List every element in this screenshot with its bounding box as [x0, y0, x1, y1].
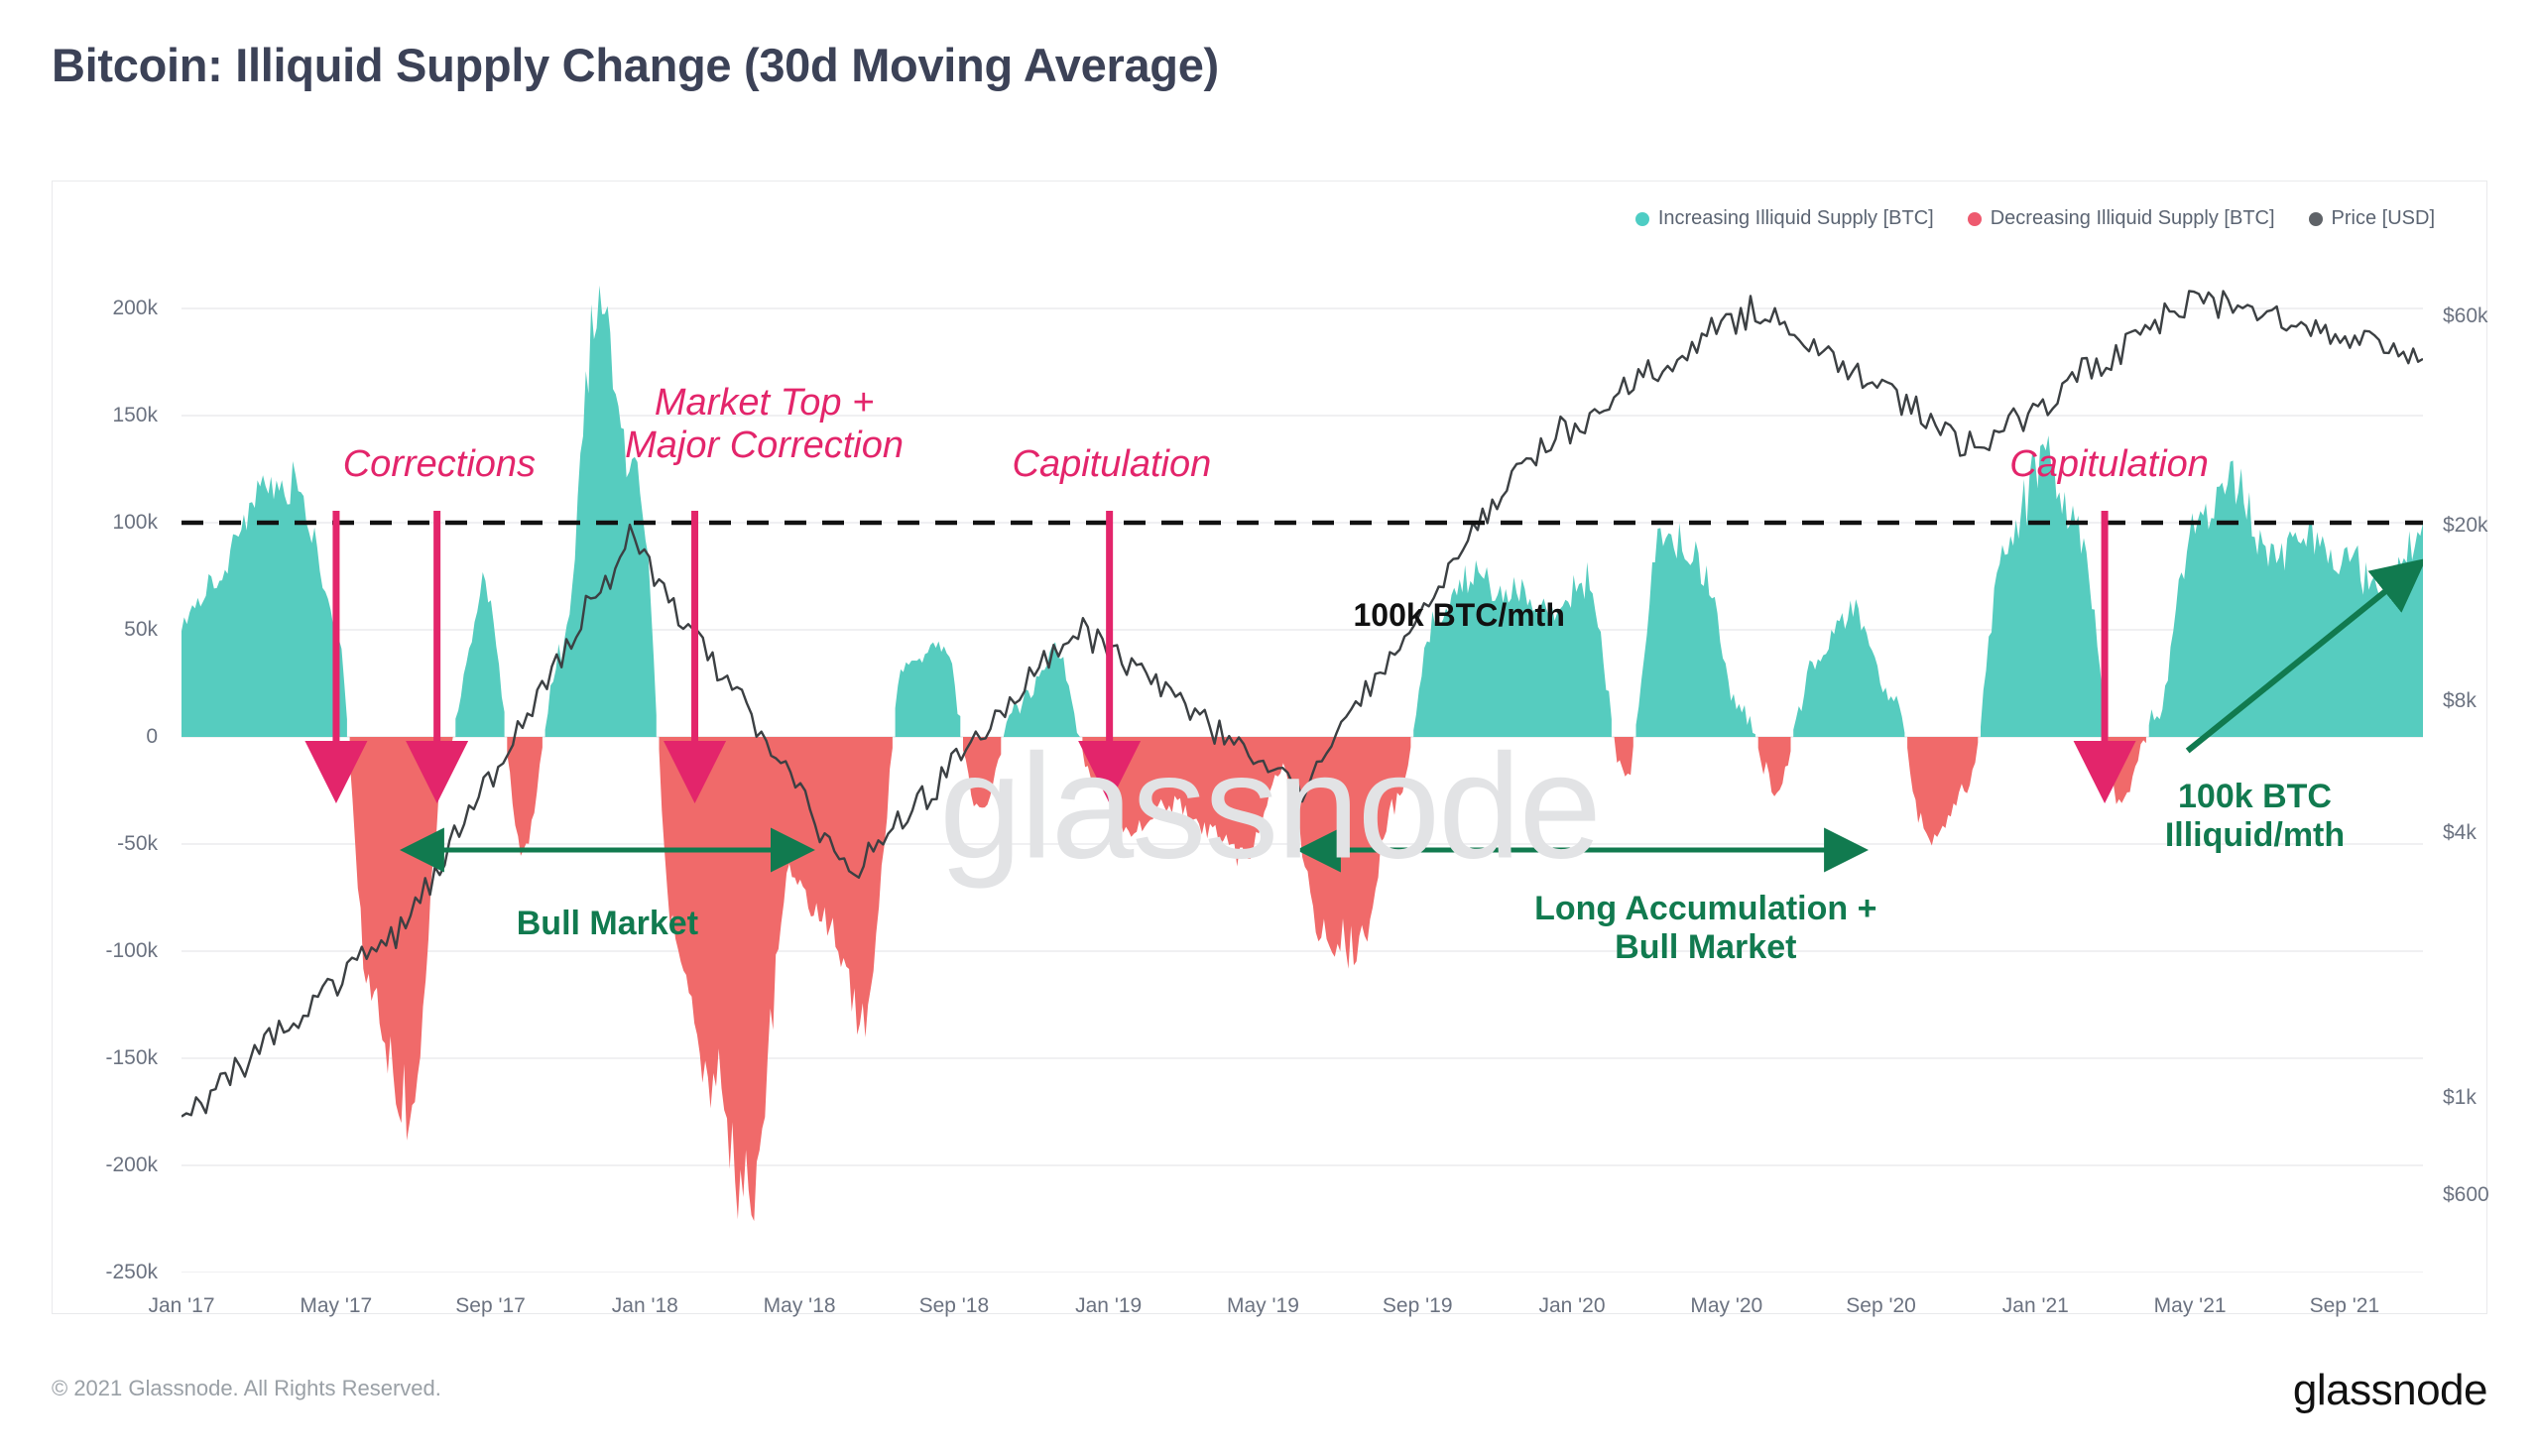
y-axis-left-tick: -50k — [117, 832, 158, 856]
x-axis-tick: Jan '20 — [1538, 1294, 1605, 1318]
annotation-long-accumulation: Long Accumulation +Bull Market — [1534, 890, 1876, 967]
annotation-line: Corrections — [343, 443, 536, 486]
legend-item-price[interactable]: Price [USD] — [2309, 207, 2435, 230]
y-axis-left-tick: 150k — [112, 404, 158, 427]
area-decreasing-illiquid-supply — [1615, 737, 1633, 777]
area-increasing-illiquid-supply — [2149, 460, 2423, 737]
legend-item-decreasing[interactable]: Decreasing Illiquid Supply [BTC] — [1968, 207, 2275, 230]
y-axis-left-tick: 0 — [146, 725, 158, 749]
y-axis-left-tick: 50k — [124, 618, 158, 642]
legend-dot-price — [2309, 212, 2323, 226]
x-axis-tick: Jan '18 — [612, 1294, 678, 1318]
page-title: Bitcoin: Illiquid Supply Change (30d Mov… — [52, 38, 1219, 92]
annotation-line: Capitulation — [1013, 443, 1212, 486]
legend-dot-increasing — [1635, 212, 1649, 226]
legend-label-increasing: Increasing Illiquid Supply [BTC] — [1658, 207, 1934, 230]
x-axis-tick: May '18 — [764, 1294, 836, 1318]
x-axis-tick: May '17 — [300, 1294, 372, 1318]
footer-copyright: © 2021 Glassnode. All Rights Reserved. — [52, 1376, 441, 1401]
x-axis-tick: Sep '17 — [455, 1294, 526, 1318]
chart-legend: Increasing Illiquid Supply [BTC] Decreas… — [1635, 207, 2435, 230]
annotation-line: Illiquid/mth — [2165, 816, 2345, 855]
plot-area — [181, 255, 2423, 1273]
y-axis-left-tick: 200k — [112, 297, 158, 320]
annotation-threshold-label: 100k BTC/mth — [1353, 597, 1564, 634]
area-increasing-illiquid-supply — [1793, 599, 1904, 737]
x-axis-tick: May '20 — [1690, 1294, 1762, 1318]
area-decreasing-illiquid-supply — [507, 737, 543, 856]
area-increasing-illiquid-supply — [455, 572, 504, 737]
y-axis-left-tick: 100k — [112, 511, 158, 535]
annotation-capitulation-1: Capitulation — [1013, 443, 1212, 486]
annotation-illiquid-rate: 100k BTCIlliquid/mth — [2165, 778, 2345, 855]
legend-item-increasing[interactable]: Increasing Illiquid Supply [BTC] — [1635, 207, 1934, 230]
annotation-line: 100k BTC — [2165, 778, 2345, 816]
x-axis-tick: Sep '19 — [1383, 1294, 1453, 1318]
area-decreasing-illiquid-supply — [1907, 737, 1978, 846]
chart-card: Increasing Illiquid Supply [BTC] Decreas… — [52, 181, 2487, 1314]
y-axis-left-tick: -100k — [105, 939, 158, 963]
x-axis-tick: Jan '21 — [2002, 1294, 2069, 1318]
annotation-line: Bull Market — [517, 905, 698, 943]
area-decreasing-illiquid-supply — [660, 737, 893, 1221]
annotation-capitulation-2: Capitulation — [2009, 443, 2209, 486]
y-axis-right-tick: $4k — [2443, 821, 2477, 845]
area-decreasing-illiquid-supply — [2109, 737, 2146, 804]
x-axis-tick: Sep '20 — [1846, 1294, 1916, 1318]
y-axis-right-tick: $1k — [2443, 1086, 2477, 1110]
annotation-line: 100k BTC/mth — [1353, 597, 1564, 634]
y-axis-right-tick: $20k — [2443, 514, 2488, 538]
x-axis-tick: May '19 — [1227, 1294, 1299, 1318]
annotation-line: Market Top + — [625, 382, 904, 425]
glassnode-logo: glassnode — [2293, 1366, 2487, 1415]
x-axis-tick: Sep '18 — [919, 1294, 990, 1318]
annotation-line: Capitulation — [2009, 443, 2209, 486]
legend-label-price: Price [USD] — [2332, 207, 2435, 230]
area-decreasing-illiquid-supply — [1082, 737, 1410, 969]
x-axis-tick: Jan '19 — [1075, 1294, 1142, 1318]
chart-page: Bitcoin: Illiquid Supply Change (30d Mov… — [0, 0, 2539, 1456]
x-axis-tick: Sep '21 — [2310, 1294, 2380, 1318]
y-axis-right-tick: $8k — [2443, 689, 2477, 713]
area-increasing-illiquid-supply — [896, 642, 961, 737]
y-axis-left-tick: -150k — [105, 1046, 158, 1070]
area-increasing-illiquid-supply — [181, 461, 347, 737]
area-increasing-illiquid-supply — [545, 286, 657, 737]
annotation-market-top: Market Top +Major Correction — [625, 382, 904, 466]
legend-label-decreasing: Decreasing Illiquid Supply [BTC] — [1991, 207, 2275, 230]
y-axis-right-tick: $600 — [2443, 1183, 2489, 1207]
y-axis-left-tick: -250k — [105, 1261, 158, 1284]
y-axis-right-tick: $60k — [2443, 304, 2488, 328]
chart-svg[interactable] — [181, 255, 2423, 1273]
annotation-line: Major Correction — [625, 425, 904, 467]
annotation-line: Long Accumulation + — [1534, 890, 1876, 928]
annotation-line: Bull Market — [1534, 928, 1876, 967]
x-axis-tick: Jan '17 — [148, 1294, 214, 1318]
annotation-corrections: Corrections — [343, 443, 536, 486]
x-axis-tick: May '21 — [2154, 1294, 2227, 1318]
area-decreasing-illiquid-supply — [1758, 737, 1791, 796]
annotation-bull-market: Bull Market — [517, 905, 698, 943]
y-axis-left-tick: -200k — [105, 1153, 158, 1177]
area-decreasing-illiquid-supply — [350, 737, 453, 1141]
legend-dot-decreasing — [1968, 212, 1982, 226]
